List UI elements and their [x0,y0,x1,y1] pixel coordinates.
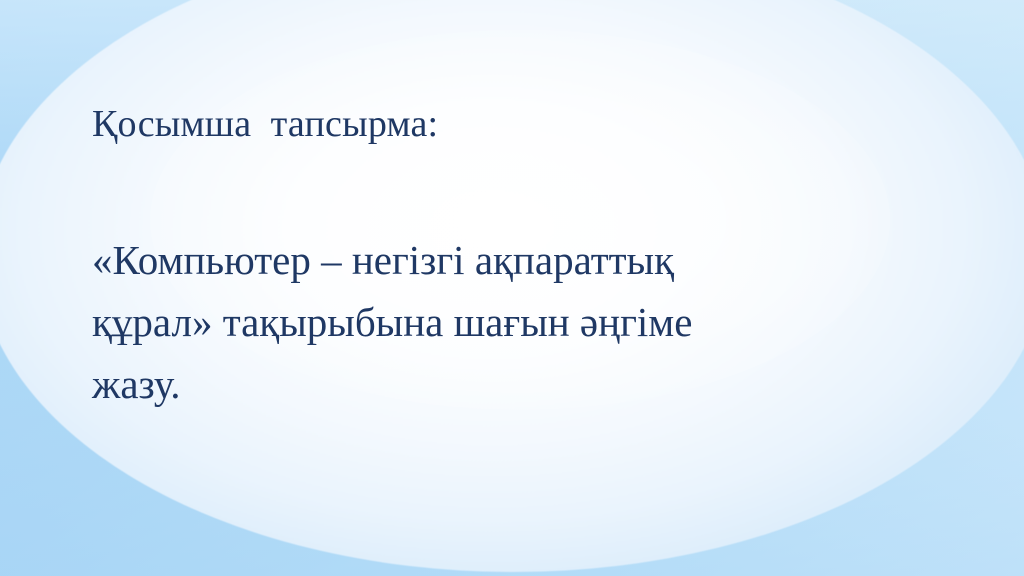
body-text-line: жазу. [92,353,852,415]
slide-heading: Қосымша тапсырма: [92,101,438,147]
slide-content: Қосымша тапсырма: «Компьютер – негізгі а… [0,0,1024,576]
slide-body-text: «Компьютер – негізгі ақпараттық құрал» т… [92,229,852,415]
body-text-line: құрал» тақырыбына шағын әңгіме [92,291,852,353]
body-text-line: «Компьютер – негізгі ақпараттық [92,229,852,291]
presentation-slide: Қосымша тапсырма: «Компьютер – негізгі а… [0,0,1024,576]
